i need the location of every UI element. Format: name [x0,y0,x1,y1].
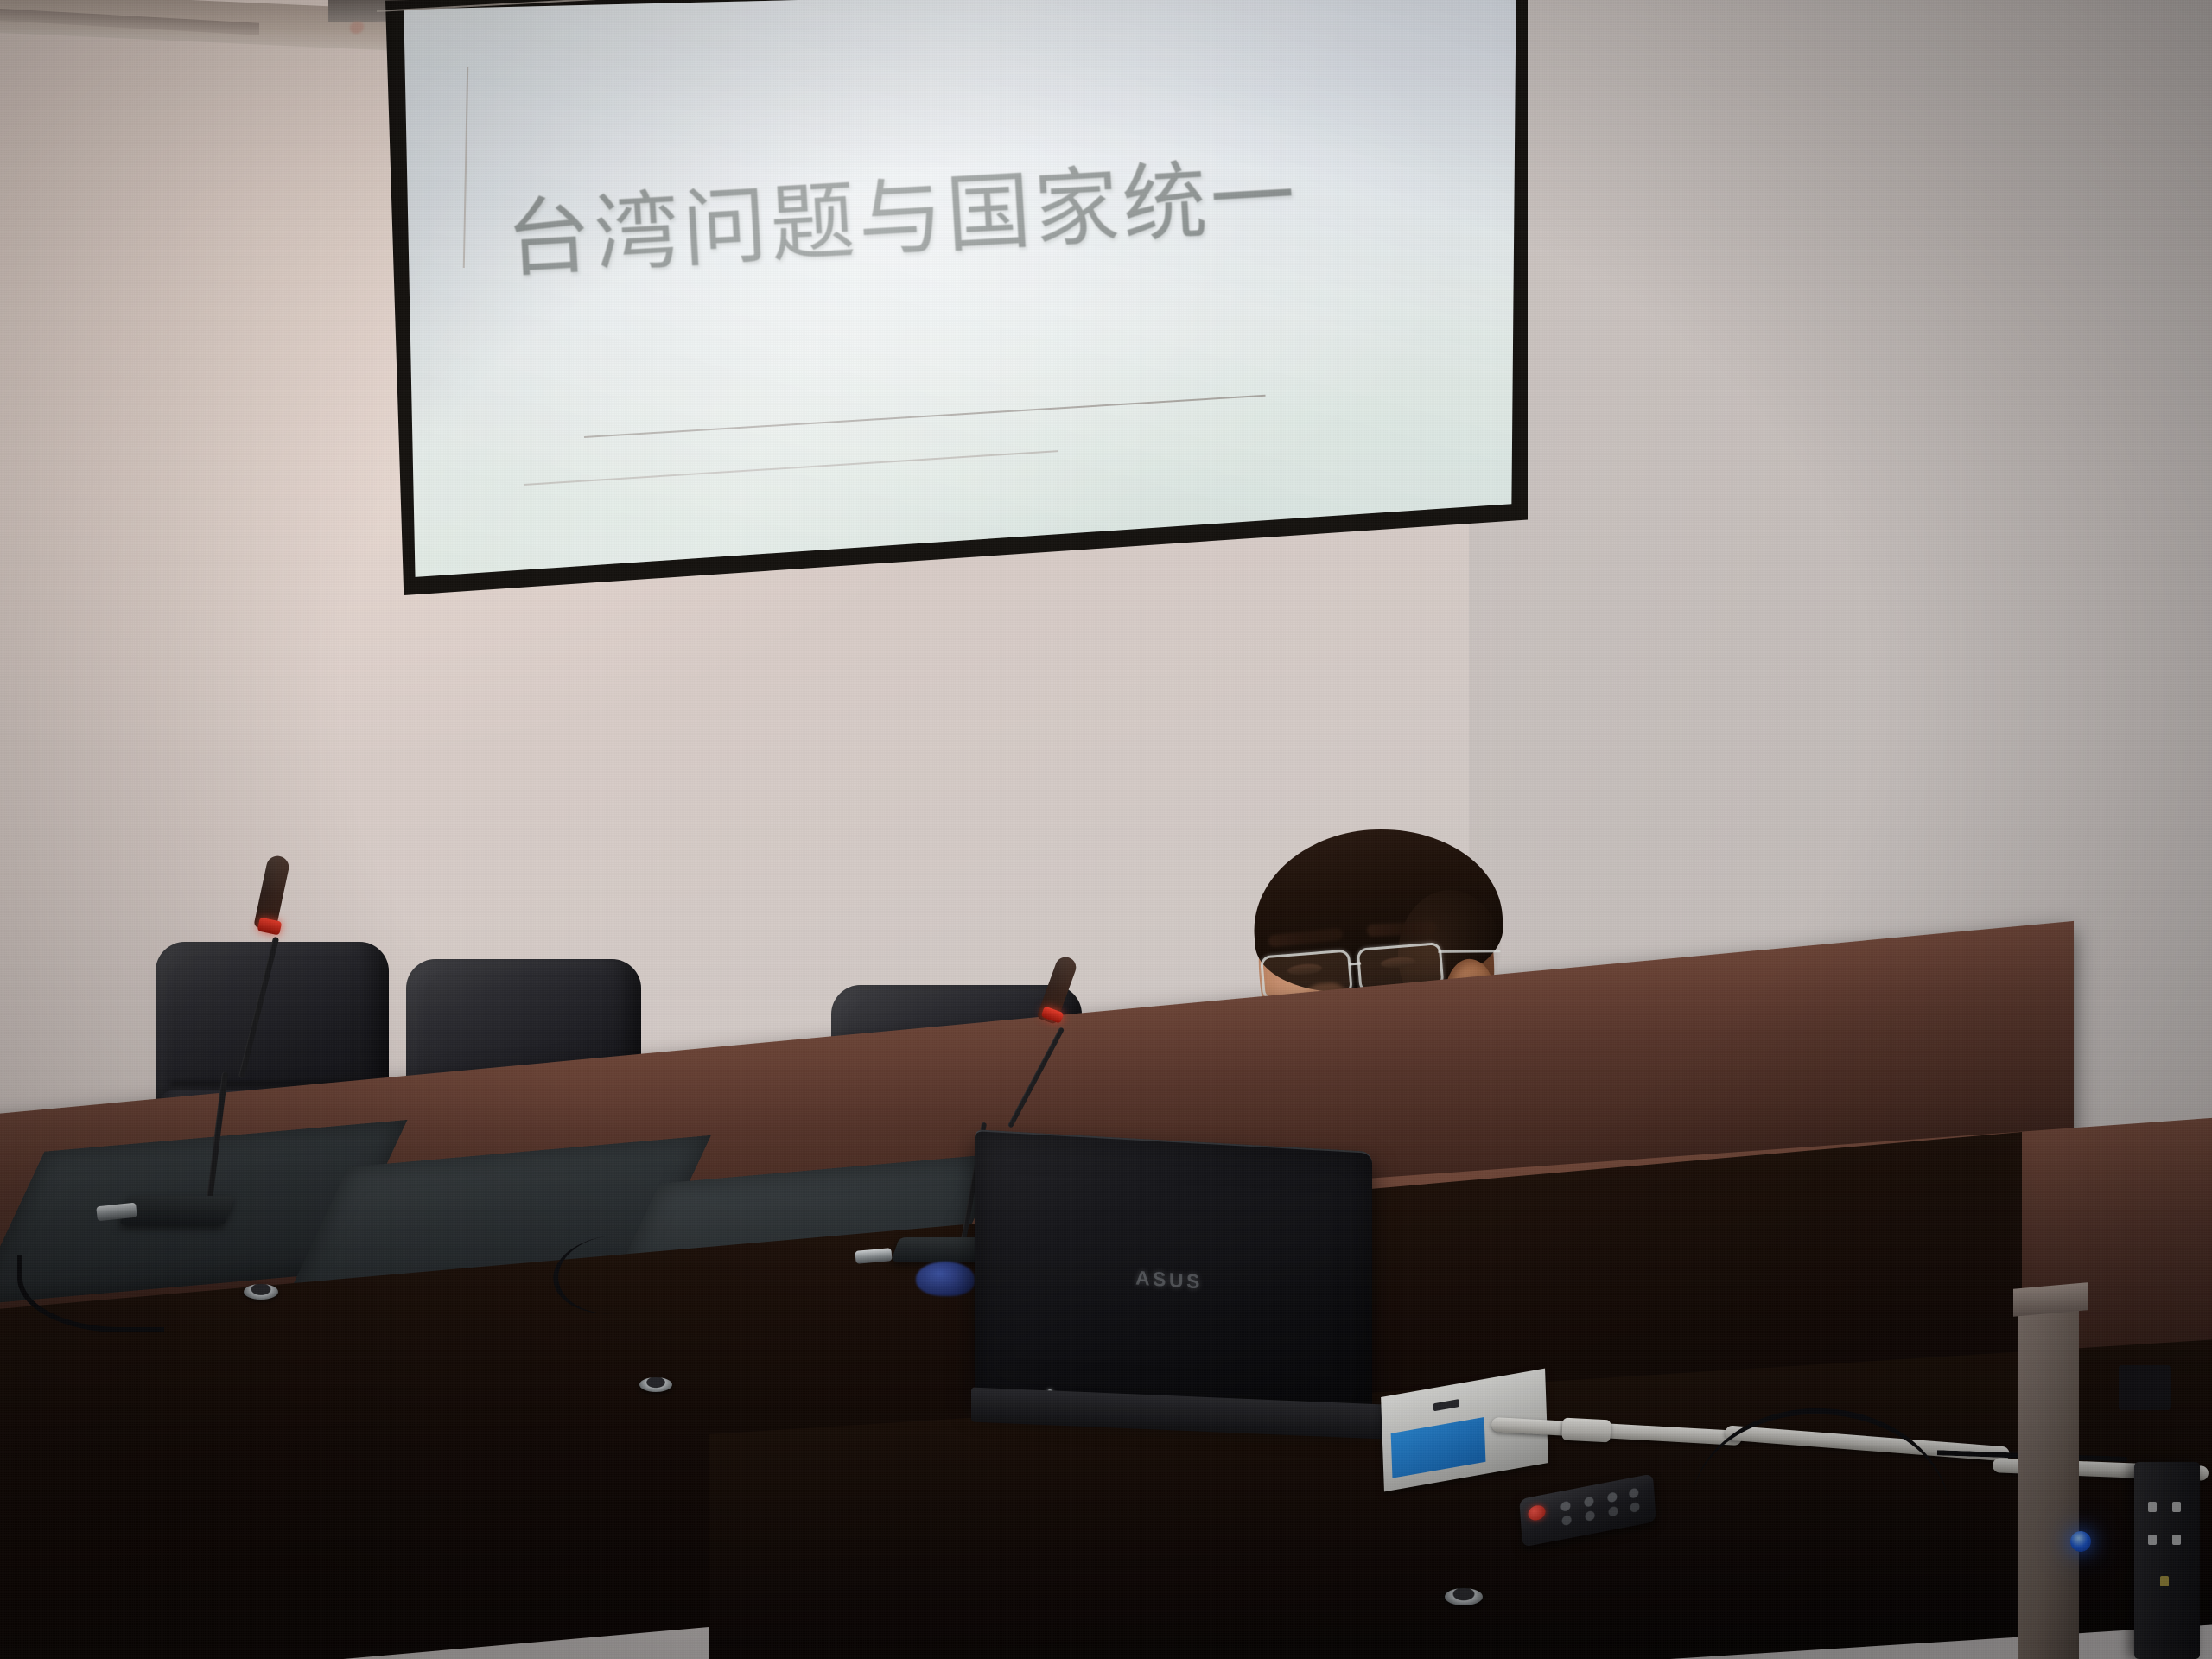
remote-power-button[interactable] [1528,1504,1546,1522]
asus-logo: ASUS [1135,1267,1203,1294]
power-socket-indicator [2160,1576,2169,1586]
table-cable-grommet-far-left [244,1284,278,1300]
eyeglass-temple [1438,950,1500,953]
wall-post [2018,1296,2079,1659]
power-socket-2[interactable] [2172,1502,2181,1512]
wall-mounted-box [2119,1365,2171,1410]
remote-keypad[interactable] [1553,1484,1644,1532]
table-cable-grommet [1445,1588,1483,1605]
gooseneck-microphone-left[interactable] [104,855,328,1270]
laptop-asus[interactable]: ASUS [975,1141,1389,1452]
screen-tint [378,0,1528,605]
power-socket-3[interactable] [2148,1535,2157,1545]
power-indicator-led [2070,1531,2091,1552]
conference-room-photo: 台湾问题与国家统一 [0,0,2212,1659]
power-strip[interactable] [2134,1462,2200,1659]
projection-screen: 台湾问题与国家统一 [378,0,1528,605]
paper-text-mark [1433,1399,1459,1411]
power-socket-4[interactable] [2172,1535,2181,1545]
blue-desk-object [916,1262,975,1296]
microphone-indicator-ring [257,917,283,935]
table-cable-grommet-left [639,1377,672,1392]
power-socket-1[interactable] [2148,1502,2157,1512]
microphone-gooseneck-upper [1007,1027,1065,1128]
cable-ferrite-core [1561,1418,1611,1443]
microphone-connector [855,1248,892,1264]
microphone-gooseneck-lower [207,1071,228,1201]
paper-blue-block [1391,1417,1486,1478]
microphone-gooseneck-upper [238,937,279,1079]
